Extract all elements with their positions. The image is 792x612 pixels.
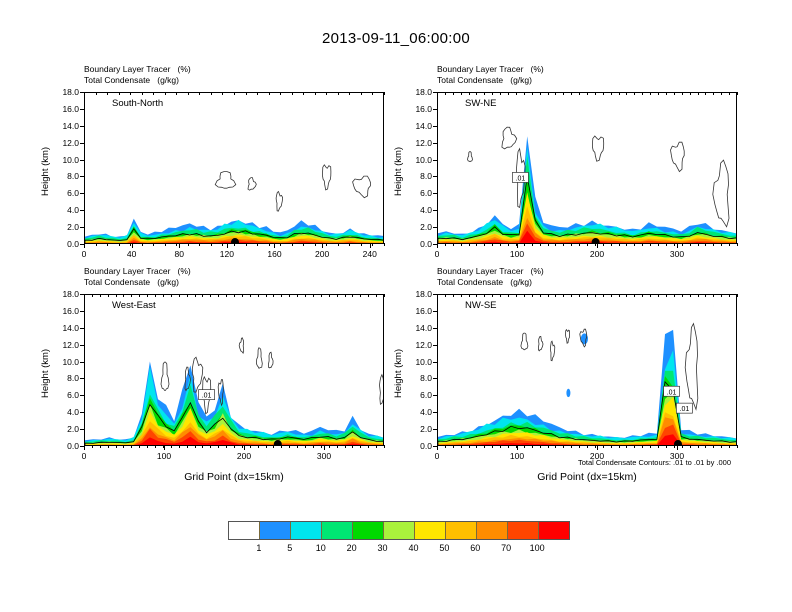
x-minor-tick (461, 445, 462, 448)
y-tick-label: 2.0 (52, 222, 79, 232)
x-minor-tick (682, 243, 683, 246)
x-minor-tick-top (257, 92, 258, 95)
x-minor-tick-top (603, 294, 604, 297)
x-tick-mark (597, 445, 598, 450)
x-minor-tick (280, 243, 281, 246)
y-tick-label: 14.0 (405, 121, 432, 131)
x-minor-tick (729, 445, 730, 448)
x-minor-tick-top (611, 92, 612, 95)
y-tick-mark (433, 345, 438, 346)
x-minor-tick (579, 243, 580, 246)
x-minor-tick (626, 445, 627, 448)
x-minor-tick-top (500, 294, 501, 297)
x-minor-tick (338, 243, 339, 246)
x-minor-tick-top (292, 92, 293, 95)
x-minor-tick-top (352, 294, 353, 297)
x-tick-label: 300 (304, 451, 344, 461)
y-tick-label: 14.0 (52, 323, 79, 333)
condensate-contour (256, 348, 262, 369)
x-tick-mark (370, 243, 371, 248)
x-minor-tick (579, 445, 580, 448)
x-minor-tick (650, 445, 651, 448)
x-tick-label: 100 (144, 451, 184, 461)
x-minor-tick (453, 445, 454, 448)
condensate-contour (502, 127, 517, 149)
y-tick-label: 10.0 (405, 357, 432, 367)
header-line-condensate: Total Condensate (g/kg) (437, 75, 544, 86)
x-minor-tick (361, 243, 362, 246)
header-line-condensate: Total Condensate (g/kg) (84, 75, 191, 86)
y-tick-mark (80, 311, 85, 312)
x-minor-tick-top (690, 92, 691, 95)
x-minor-tick (532, 243, 533, 246)
figure-canvas: 2013-09-11_06:00:00 Boundary Layer Trace… (0, 0, 792, 612)
x-minor-tick-top (682, 92, 683, 95)
x-tick-mark (322, 243, 323, 248)
x-minor-tick-top (666, 92, 667, 95)
y-tick-label: 10.0 (405, 155, 432, 165)
x-minor-tick-top (155, 294, 156, 297)
header-line-tracer: Boundary Layer Tracer (%) (437, 266, 544, 277)
x-minor-tick-top (266, 294, 267, 297)
x-minor-tick-top (250, 294, 251, 297)
x-minor-tick-top (329, 294, 330, 297)
y-tick-label: 18.0 (52, 289, 79, 299)
x-minor-tick (666, 243, 667, 246)
x-minor-tick-top (92, 294, 93, 297)
colorbar-swatch (383, 522, 414, 539)
y-axis-label: Height (km) (40, 147, 51, 196)
x-minor-tick (445, 243, 446, 246)
x-minor-tick-top (199, 92, 200, 95)
x-minor-tick (147, 445, 148, 448)
x-minor-tick (508, 243, 509, 246)
x-minor-tick-top (476, 294, 477, 297)
y-tick-mark (80, 395, 85, 396)
x-minor-tick-top (571, 92, 572, 95)
x-minor-tick-top (123, 294, 124, 297)
x-minor-tick (453, 243, 454, 246)
colorbar[interactable] (228, 521, 570, 540)
x-minor-tick (721, 445, 722, 448)
x-minor-tick-top (611, 294, 612, 297)
x-minor-tick-top (202, 294, 203, 297)
x-minor-tick-top (176, 92, 177, 95)
svg-text:.01: .01 (667, 389, 677, 396)
x-minor-tick-top (721, 294, 722, 297)
x-minor-tick-top (469, 92, 470, 95)
x-minor-tick (445, 445, 446, 448)
colorbar-swatch (352, 522, 383, 539)
contour-value-label: .01 (199, 390, 215, 400)
x-minor-tick-top (107, 92, 108, 95)
x-tick-label: 300 (657, 249, 697, 259)
x-minor-tick (705, 445, 706, 448)
x-minor-tick (273, 445, 274, 448)
x-minor-tick (187, 445, 188, 448)
x-tick-label: 40 (112, 249, 152, 259)
x-minor-tick (698, 445, 699, 448)
y-tick-label: 14.0 (405, 323, 432, 333)
x-minor-tick-top (269, 92, 270, 95)
panel-label-sw-ne: SW-NE (465, 98, 497, 109)
x-minor-tick-top (368, 294, 369, 297)
x-minor-tick-top (281, 294, 282, 297)
x-minor-tick-top (532, 92, 533, 95)
x-minor-tick (548, 243, 549, 246)
x-minor-tick-top (737, 294, 738, 297)
x-minor-tick-top (171, 294, 172, 297)
condensate-contour (671, 142, 685, 172)
panel-header-sw-ne: Boundary Layer Tracer (%)Total Condensat… (437, 64, 544, 85)
x-minor-tick-top (674, 294, 675, 297)
y-tick-mark (433, 210, 438, 211)
x-minor-tick (210, 445, 211, 448)
y-tick-mark (433, 126, 438, 127)
x-minor-tick-top (321, 294, 322, 297)
x-minor-tick-top (246, 92, 247, 95)
x-minor-tick (737, 243, 738, 246)
y-axis-label: Height (km) (393, 147, 404, 196)
x-tick-mark (677, 445, 678, 450)
x-minor-tick-top (445, 92, 446, 95)
svg-text:.01: .01 (516, 175, 526, 182)
x-minor-tick-top (326, 92, 327, 95)
x-minor-tick-top (650, 92, 651, 95)
x-minor-tick-top (147, 294, 148, 297)
y-tick-label: 16.0 (52, 104, 79, 114)
colorbar-swatch (414, 522, 445, 539)
x-minor-tick-top (555, 92, 556, 95)
x-minor-tick (437, 243, 438, 246)
x-minor-tick-top (619, 294, 620, 297)
x-minor-tick-top (476, 92, 477, 95)
x-minor-tick (313, 445, 314, 448)
y-tick-mark (433, 227, 438, 228)
x-minor-tick (461, 243, 462, 246)
x-minor-tick-top (361, 92, 362, 95)
colorbar-swatch (321, 522, 352, 539)
x-minor-tick-top (289, 294, 290, 297)
y-tick-label: 12.0 (52, 138, 79, 148)
x-minor-tick (437, 445, 438, 448)
y-tick-mark (80, 362, 85, 363)
y-tick-label: 2.0 (405, 424, 432, 434)
x-minor-tick (116, 445, 117, 448)
x-minor-tick-top (729, 294, 730, 297)
x-minor-tick-top (626, 92, 627, 95)
x-minor-tick (619, 445, 620, 448)
x-minor-tick-top (626, 294, 627, 297)
x-minor-tick-top (532, 294, 533, 297)
colorbar-swatch (476, 522, 507, 539)
panel-label-nw-se: NW-SE (465, 300, 497, 311)
condensate-contour (215, 172, 236, 189)
x-minor-tick (721, 243, 722, 246)
x-minor-tick (469, 243, 470, 246)
header-line-condensate: Total Condensate (g/kg) (437, 277, 544, 288)
x-minor-tick (476, 243, 477, 246)
colorbar-swatch (538, 522, 569, 539)
x-minor-tick (292, 243, 293, 246)
x-minor-tick-top (273, 294, 274, 297)
tracer-cell-aloft (566, 389, 570, 397)
x-minor-tick-top (96, 92, 97, 95)
x-minor-tick (524, 243, 525, 246)
x-minor-tick-top (437, 294, 438, 297)
x-minor-tick (713, 243, 714, 246)
x-minor-tick (84, 243, 85, 246)
y-tick-label: 18.0 (405, 87, 432, 97)
x-minor-tick-top (384, 294, 385, 297)
y-axis-label: Height (km) (40, 349, 51, 398)
condensate-contour (521, 333, 528, 350)
y-tick-mark (80, 210, 85, 211)
x-minor-tick-top (524, 294, 525, 297)
x-minor-tick-top (666, 294, 667, 297)
x-tick-label: 200 (577, 249, 617, 259)
x-minor-tick-top (658, 92, 659, 95)
x-minor-tick (532, 445, 533, 448)
x-tick-mark (324, 445, 325, 450)
x-minor-tick (349, 243, 350, 246)
x-minor-tick-top (153, 92, 154, 95)
y-tick-label: 16.0 (405, 104, 432, 114)
panel-label-west-east: West-East (112, 300, 156, 311)
y-tick-label: 12.0 (405, 138, 432, 148)
condensate-contour (192, 357, 203, 392)
x-minor-tick (571, 445, 572, 448)
x-minor-tick-top (258, 294, 259, 297)
x-axis-label: Grid Point (dx=15km) (437, 471, 737, 483)
x-minor-tick-top (508, 92, 509, 95)
x-minor-tick (626, 243, 627, 246)
header-line-tracer: Boundary Layer Tracer (%) (437, 64, 544, 75)
y-tick-mark (433, 412, 438, 413)
x-tick-mark (132, 243, 133, 248)
x-minor-tick (634, 243, 635, 246)
header-line-tracer: Boundary Layer Tracer (%) (84, 64, 191, 75)
y-tick-label: 6.0 (405, 188, 432, 198)
y-axis-label: Height (km) (393, 349, 404, 398)
x-minor-tick (242, 445, 243, 448)
x-minor-tick (587, 445, 588, 448)
y-tick-mark (433, 143, 438, 144)
x-minor-tick (658, 445, 659, 448)
contour-value-label: .01 (512, 172, 528, 182)
x-minor-tick-top (595, 92, 596, 95)
x-minor-tick (119, 243, 120, 246)
x-minor-tick (476, 445, 477, 448)
x-minor-tick-top (548, 294, 549, 297)
contour-value-label: .01 (664, 386, 680, 396)
condensate-contour (550, 341, 554, 361)
x-minor-tick (165, 243, 166, 246)
x-minor-tick-top (210, 294, 211, 297)
y-tick-mark (433, 109, 438, 110)
x-minor-tick-top (563, 92, 564, 95)
x-axis-label: Grid Point (dx=15km) (84, 471, 384, 483)
x-minor-tick-top (642, 92, 643, 95)
x-minor-tick-top (313, 294, 314, 297)
y-tick-mark (433, 160, 438, 161)
x-minor-tick (524, 445, 525, 448)
condensate-contour (239, 338, 244, 353)
x-minor-tick-top (119, 92, 120, 95)
header-line-tracer: Boundary Layer Tracer (%) (84, 266, 191, 277)
x-minor-tick-top (139, 294, 140, 297)
x-minor-tick (595, 445, 596, 448)
x-minor-tick (153, 243, 154, 246)
x-minor-tick-top (682, 294, 683, 297)
x-minor-tick-top (142, 92, 143, 95)
x-minor-tick (650, 243, 651, 246)
x-minor-tick-top (729, 92, 730, 95)
x-tick-label: 200 (224, 451, 264, 461)
y-tick-label: 16.0 (52, 306, 79, 316)
x-minor-tick (163, 445, 164, 448)
figure-title: 2013-09-11_06:00:00 (0, 30, 792, 47)
x-minor-tick (258, 445, 259, 448)
colorbar-tick-label: 100 (517, 543, 557, 553)
y-tick-mark (80, 193, 85, 194)
contour-value-label: .01 (676, 403, 692, 413)
x-minor-tick-top (100, 294, 101, 297)
x-tick-label: 0 (417, 249, 457, 259)
x-minor-tick-top (713, 92, 714, 95)
y-tick-label: 8.0 (405, 171, 432, 181)
condensate-contour (161, 362, 169, 390)
plot-area-south-north[interactable] (84, 92, 384, 244)
y-tick-label: 6.0 (405, 390, 432, 400)
x-minor-tick-top (500, 92, 501, 95)
x-minor-tick-top (571, 294, 572, 297)
x-minor-tick (555, 445, 556, 448)
x-minor-tick (384, 243, 385, 246)
y-tick-label: 18.0 (405, 289, 432, 299)
y-tick-label: 10.0 (52, 155, 79, 165)
x-tick-label: 100 (497, 451, 537, 461)
y-tick-label: 8.0 (52, 373, 79, 383)
y-tick-mark (80, 345, 85, 346)
x-minor-tick (195, 445, 196, 448)
x-minor-tick-top (698, 294, 699, 297)
condensate-contour (248, 178, 256, 191)
contour-field-sw-ne: .01 (438, 93, 737, 244)
x-minor-tick (222, 243, 223, 246)
x-minor-tick-top (642, 294, 643, 297)
x-minor-tick (508, 445, 509, 448)
y-tick-mark (433, 311, 438, 312)
y-tick-mark (80, 143, 85, 144)
x-minor-tick (705, 243, 706, 246)
x-minor-tick (269, 243, 270, 246)
x-minor-tick-top (461, 92, 462, 95)
x-minor-tick (372, 243, 373, 246)
x-tick-mark (677, 243, 678, 248)
x-minor-tick (321, 445, 322, 448)
x-minor-tick-top (242, 294, 243, 297)
x-minor-tick (563, 445, 564, 448)
condensate-contour (592, 136, 603, 161)
colorbar-swatch (290, 522, 321, 539)
colorbar-swatch (445, 522, 476, 539)
x-minor-tick (571, 243, 572, 246)
x-minor-tick-top (305, 294, 306, 297)
x-tick-label: 0 (417, 451, 457, 461)
x-tick-label: 100 (497, 249, 537, 259)
y-tick-label: 18.0 (52, 87, 79, 97)
y-tick-mark (80, 176, 85, 177)
x-minor-tick-top (315, 92, 316, 95)
x-minor-tick-top (705, 92, 706, 95)
x-minor-tick-top (131, 294, 132, 297)
plot-area-west-east[interactable]: .01 (84, 294, 384, 446)
x-minor-tick (492, 243, 493, 246)
x-minor-tick (690, 243, 691, 246)
x-minor-tick (384, 445, 385, 448)
x-minor-tick (139, 445, 140, 448)
y-tick-mark (80, 429, 85, 430)
x-minor-tick (257, 243, 258, 246)
x-minor-tick-top (548, 92, 549, 95)
x-minor-tick-top (737, 92, 738, 95)
y-tick-label: 0.0 (52, 441, 79, 451)
contour-field-nw-se: .01.01 (438, 295, 737, 446)
y-tick-label: 0.0 (405, 239, 432, 249)
x-minor-tick (492, 445, 493, 448)
y-tick-mark (433, 395, 438, 396)
x-minor-tick (690, 445, 691, 448)
x-minor-tick (642, 243, 643, 246)
x-minor-tick (500, 445, 501, 448)
condensate-contour (276, 192, 283, 212)
x-minor-tick (246, 243, 247, 246)
x-minor-tick-top (713, 294, 714, 297)
x-minor-tick-top (445, 294, 446, 297)
y-tick-mark (80, 412, 85, 413)
x-minor-tick (326, 243, 327, 246)
x-minor-tick (611, 445, 612, 448)
x-tick-label: 160 (254, 249, 294, 259)
x-minor-tick (234, 445, 235, 448)
plot-area-sw-ne[interactable]: .01 (437, 92, 737, 244)
plot-area-nw-se[interactable]: .01.01 (437, 294, 737, 446)
x-tick-mark (597, 243, 598, 248)
svg-text:.01: .01 (680, 406, 690, 413)
x-minor-tick-top (218, 294, 219, 297)
header-line-condensate: Total Condensate (g/kg) (84, 277, 191, 288)
condensate-contour (538, 336, 543, 350)
x-minor-tick (289, 445, 290, 448)
x-minor-tick-top (163, 294, 164, 297)
x-minor-tick (211, 243, 212, 246)
y-tick-label: 2.0 (405, 222, 432, 232)
x-minor-tick-top (587, 294, 588, 297)
condensate-contour (353, 176, 371, 198)
x-minor-tick-top (338, 92, 339, 95)
x-tick-label: 80 (159, 249, 199, 259)
x-minor-tick-top (587, 92, 588, 95)
x-minor-tick-top (384, 92, 385, 95)
x-minor-tick (352, 445, 353, 448)
x-tick-mark (244, 445, 245, 450)
x-minor-tick-top (524, 92, 525, 95)
x-minor-tick (713, 445, 714, 448)
x-minor-tick-top (211, 92, 212, 95)
x-minor-tick (698, 243, 699, 246)
y-tick-mark (433, 328, 438, 329)
